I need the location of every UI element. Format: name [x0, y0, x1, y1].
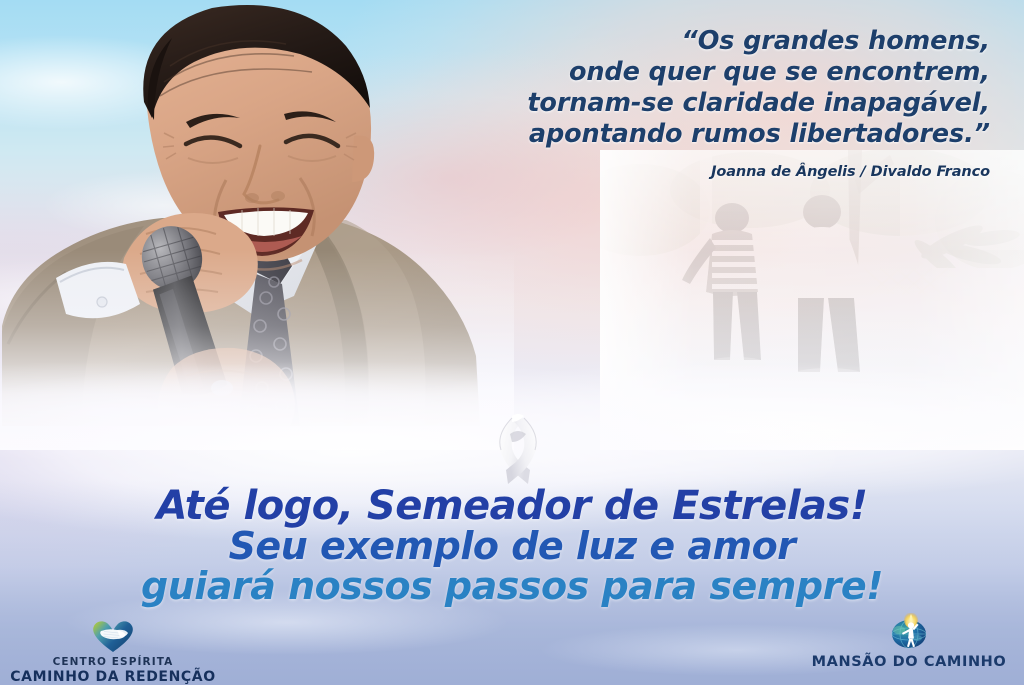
logo-mansao-do-caminho: MANSÃO DO CAMINHO: [804, 612, 1014, 671]
quote-line-4: apontando rumos libertadores.”: [430, 119, 990, 150]
logo-left-line-2: CAMINHO DA REDENÇÃO: [8, 669, 218, 685]
quote-line-3: tornam-se claridade inapagável,: [430, 88, 990, 119]
logo-right-line-1: MANSÃO DO CAMINHO: [804, 654, 1014, 671]
headline-line-3: guiará nossos passos para sempre!: [0, 567, 1024, 606]
quote-line-2: onde quer que se encontrem,: [430, 57, 990, 88]
headline-block: Até logo, Semeador de Estrelas! Seu exem…: [0, 486, 1024, 606]
memorial-poster: “Os grandes homens, onde quer que se enc…: [0, 0, 1024, 685]
globe-figure-icon: [804, 612, 1014, 652]
logo-centro-espirita: CENTRO ESPÍRITA CAMINHO DA REDENÇÃO: [8, 616, 218, 685]
quote-block: “Os grandes homens, onde quer que se enc…: [430, 26, 990, 180]
headline-line-2: Seu exemplo de luz e amor: [0, 527, 1024, 566]
heart-hand-icon: [8, 616, 218, 656]
logo-left-line-1: CENTRO ESPÍRITA: [8, 656, 218, 669]
quote-attribution: Joanna de Ângelis / Divaldo Franco: [430, 164, 990, 180]
headline-line-1: Até logo, Semeador de Estrelas!: [0, 486, 1024, 526]
quote-line-1: “Os grandes homens,: [430, 26, 990, 57]
white-ribbon-icon: [482, 408, 554, 488]
